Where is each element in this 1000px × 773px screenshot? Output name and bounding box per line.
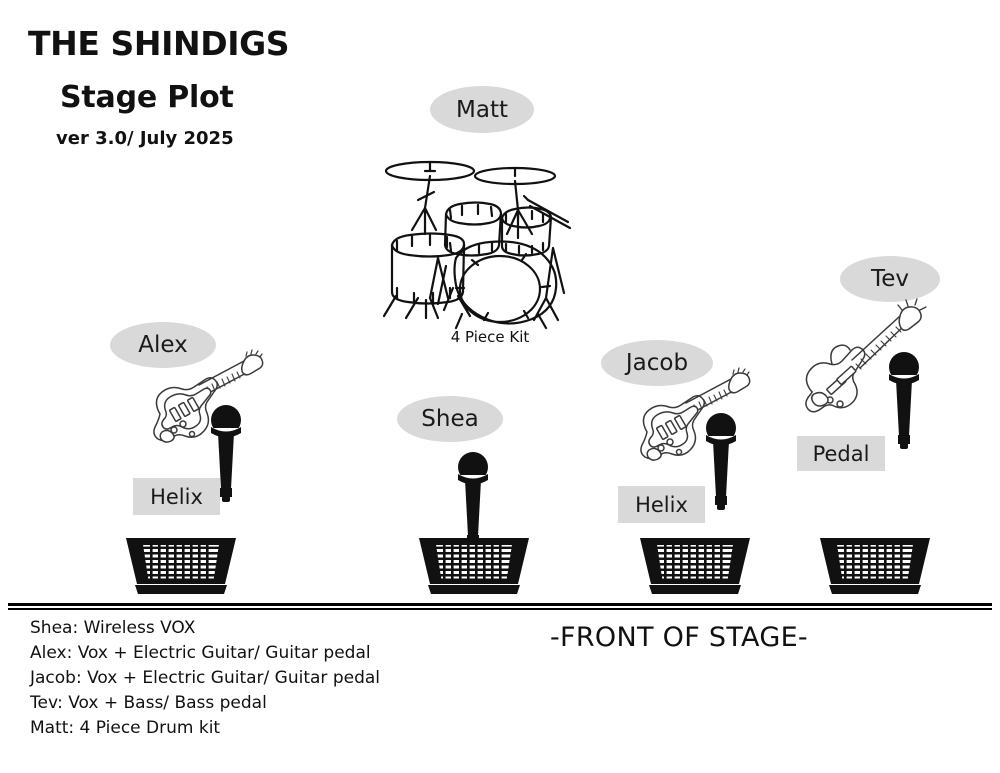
legend-item: Tev: Vox + Bass/ Bass pedal: [30, 691, 380, 716]
page-title: Stage Plot: [60, 80, 234, 115]
name-tag-matt: Matt: [430, 86, 534, 133]
drum-kit-icon: [378, 148, 588, 320]
legend-item: Shea: Wireless VOX: [30, 616, 380, 641]
gear-box-label: Pedal: [813, 442, 870, 466]
wedge-monitor-icon: [640, 534, 750, 598]
stage-plot-canvas: THE SHINDIGS Stage Plot ver 3.0/ July 20…: [0, 0, 1000, 773]
gear-box-label: Helix: [150, 485, 203, 509]
band-name: THE SHINDIGS: [28, 24, 289, 63]
wedge-monitor-icon: [419, 534, 529, 598]
front-of-stage-divider: [8, 603, 992, 610]
gear-box-helix-jacob: Helix: [618, 486, 705, 523]
wedge-monitor-icon: [126, 534, 236, 598]
name-tag-label: Matt: [456, 97, 508, 123]
version-label: ver 3.0/ July 2025: [56, 128, 234, 149]
kit-caption: 4 Piece Kit: [410, 328, 570, 346]
gear-box-helix-alex: Helix: [133, 478, 220, 515]
name-tag-label: Shea: [421, 406, 478, 432]
legend-item: Alex: Vox + Electric Guitar/ Guitar peda…: [30, 641, 380, 666]
name-tag-shea: Shea: [397, 396, 503, 442]
name-tag-label: Tev: [871, 266, 909, 292]
legend-list: Shea: Wireless VOX Alex: Vox + Electric …: [30, 616, 380, 741]
microphone-icon: [886, 350, 922, 452]
gear-box-pedal-tev: Pedal: [797, 436, 885, 471]
divider-bar-thin: [8, 608, 992, 610]
microphone-icon: [703, 411, 739, 513]
wedge-monitor-icon: [820, 534, 930, 598]
name-tag-tev: Tev: [840, 256, 940, 302]
legend-item: Jacob: Vox + Electric Guitar/ Guitar ped…: [30, 666, 380, 691]
front-of-stage-label: -FRONT OF STAGE-: [550, 622, 808, 653]
divider-bar-thick: [8, 603, 992, 606]
gear-box-label: Helix: [635, 493, 688, 517]
legend-item: Matt: 4 Piece Drum kit: [30, 716, 380, 741]
